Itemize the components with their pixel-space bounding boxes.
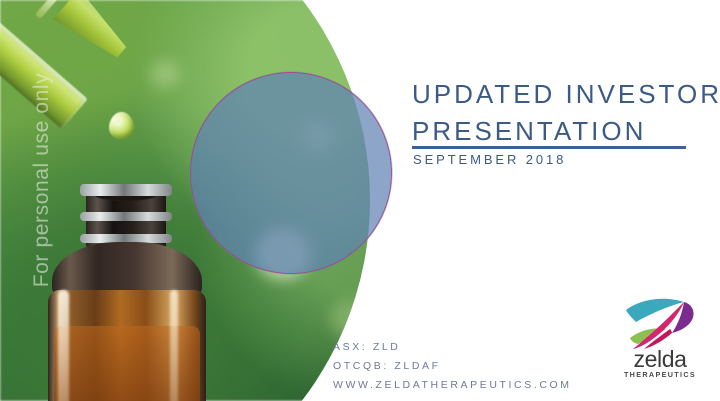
bottle-highlight bbox=[170, 290, 178, 401]
subtitle-date: SEPTEMBER 2018 bbox=[413, 152, 566, 167]
bottle-liquid bbox=[54, 326, 200, 401]
page-title: UPDATED INVESTOR PRESENTATION bbox=[412, 76, 697, 150]
contact-block: ASX: ZLD OTCQB: ZLDAF WWW.ZELDATHERAPEUT… bbox=[333, 338, 572, 395]
title-line-1: UPDATED INVESTOR bbox=[412, 76, 697, 113]
bottle-collar bbox=[80, 184, 172, 196]
website-url[interactable]: WWW.ZELDATHERAPEUTICS.COM bbox=[333, 376, 572, 395]
title-line-2: PRESENTATION bbox=[412, 113, 697, 150]
bottle-collar bbox=[80, 212, 172, 221]
pipette-tip bbox=[53, 0, 135, 68]
title-divider bbox=[412, 146, 686, 149]
vertical-watermark: For personal use only bbox=[30, 50, 54, 310]
pipette-ring bbox=[35, 0, 59, 19]
decorative-circle bbox=[190, 72, 392, 274]
bokeh-highlight bbox=[330, 300, 370, 338]
bottle-highlight bbox=[58, 290, 69, 401]
asx-ticker: ASX: ZLD bbox=[333, 338, 572, 357]
amber-tincture-bottle bbox=[44, 186, 214, 401]
oil-droplet bbox=[109, 112, 134, 139]
zelda-logo: zelda THERAPEUTICS bbox=[614, 296, 706, 388]
presentation-slide: For personal use only UPDATED INVESTOR P… bbox=[0, 0, 720, 401]
dropper-pipette bbox=[0, 0, 148, 160]
logo-tagline: THERAPEUTICS bbox=[614, 370, 706, 379]
otcqb-ticker: OTCQB: ZLDAF bbox=[333, 357, 572, 376]
zelda-swoosh-icon bbox=[620, 296, 700, 352]
logo-wordmark: zelda bbox=[614, 348, 706, 371]
bokeh-highlight bbox=[150, 60, 180, 88]
